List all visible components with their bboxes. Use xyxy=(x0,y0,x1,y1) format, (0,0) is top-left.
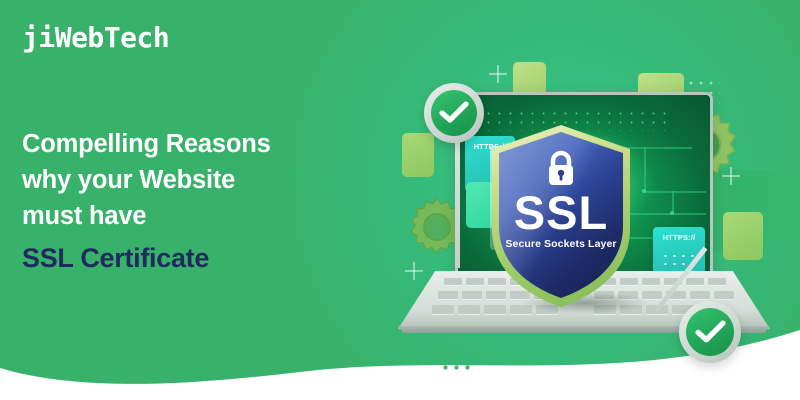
plus-mark-icon-1 xyxy=(489,65,507,83)
page-subtitle: SSL Certificate xyxy=(22,243,209,274)
shield-title: SSL xyxy=(492,188,630,238)
checkmark-icon-top xyxy=(439,99,469,127)
verified-badge-bottom[interactable] xyxy=(679,301,741,363)
headline-line-1: Compelling Reasons xyxy=(22,126,352,162)
decor-dot-grid-2 xyxy=(440,340,470,370)
verified-badge-top[interactable] xyxy=(424,83,484,143)
https-card-right: HTTPS:// xyxy=(653,227,705,277)
decor-square-4 xyxy=(723,212,763,260)
headline-line-3: must have xyxy=(22,198,352,234)
shield-subtitle: Secure Sockets Layer xyxy=(492,238,630,250)
ssl-shield: SSL Secure Sockets Layer xyxy=(492,125,630,307)
headline-line-2: why your Website xyxy=(22,162,352,198)
decor-square-3 xyxy=(402,133,434,177)
https-label-right: HTTPS:// xyxy=(653,233,705,242)
page-title: Compelling Reasons why your Website must… xyxy=(22,126,352,234)
brand-logo[interactable]: jiWebTech xyxy=(22,21,169,54)
ssl-certificate-banner: jiWebTech Compelling Reasons why your We… xyxy=(0,0,800,400)
checkmark-icon-bottom xyxy=(695,318,726,347)
